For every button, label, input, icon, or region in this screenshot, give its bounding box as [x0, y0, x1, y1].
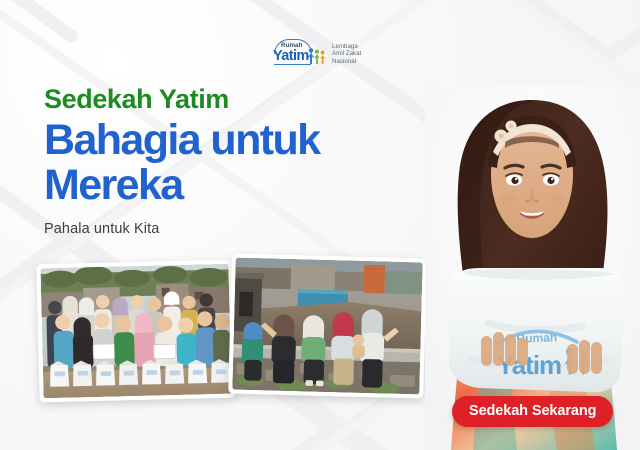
brand-logo-lockup: Rumah Yatim [272, 38, 361, 70]
rumah-yatim-logo-icon: Rumah Yatim [272, 38, 326, 70]
logo-word-yatim: Yatim [273, 49, 309, 63]
logo-people-figures-icon [307, 47, 326, 65]
promo-banner: Rumah Yatim [0, 0, 640, 450]
kicker-text: Sedekah Yatim [44, 84, 319, 114]
headline-line-2: Mereka [44, 163, 319, 208]
brand-tagline-line1: Lembaga [332, 43, 361, 51]
hand-right [567, 340, 602, 374]
photo-children-with-rice-bags [36, 260, 235, 403]
brand-tagline: Lembaga Amil Zakat Nasional [332, 43, 361, 66]
headline-copy-block: Sedekah Yatim Bahagia untuk Mereka Pahal… [44, 84, 319, 237]
sedekah-sekarang-button[interactable]: Sedekah Sekarang [452, 396, 613, 427]
headline-line-1: Bahagia untuk [44, 118, 319, 163]
logo-underline [274, 64, 311, 65]
brand-tagline-line2: Amil Zakat [332, 50, 361, 58]
rumah-yatim-pillow: Rumah Yatim [449, 268, 623, 392]
photo-girls-sitting-village [228, 253, 427, 398]
brand-tagline-line3: Nasional [332, 58, 361, 66]
subcopy-text: Pahala untuk Kita [44, 221, 319, 237]
headline-text: Bahagia untuk Mereka [44, 118, 319, 208]
